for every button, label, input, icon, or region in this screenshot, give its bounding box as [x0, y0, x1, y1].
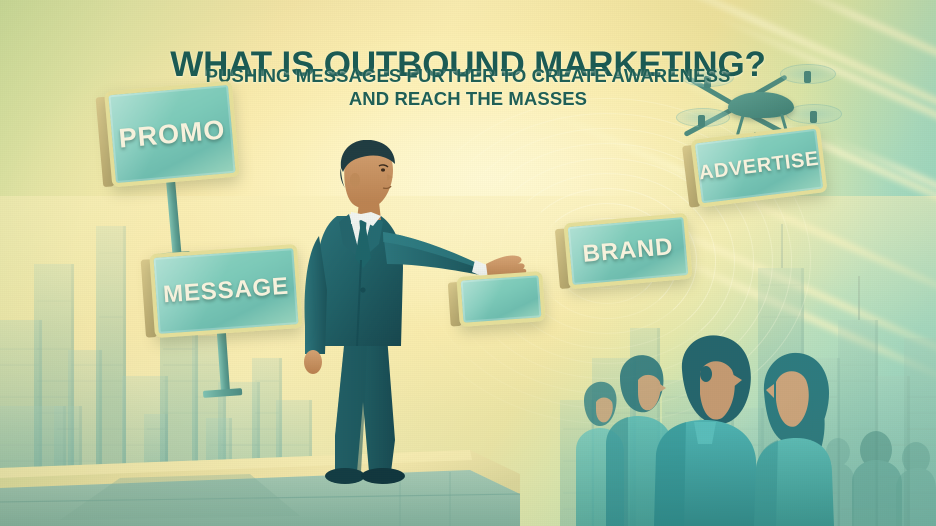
- sign-label: MESSAGE: [162, 273, 290, 310]
- sign-label: ADVERTISE: [698, 147, 821, 185]
- sign-message: MESSAGE: [149, 244, 302, 338]
- sign-face: PROMO: [104, 81, 240, 188]
- sign-label: PROMO: [117, 114, 226, 154]
- sign-blank: [456, 271, 545, 327]
- sign-face: [456, 271, 545, 327]
- outbound-marketing-poster: PROMOMESSAGEADVERTISEBRAND WHAT IS OUTBO…: [0, 0, 936, 526]
- sign-brand: BRAND: [563, 213, 692, 290]
- sign-face: BRAND: [563, 213, 692, 290]
- subtitle-line-1: PUSHING MESSAGES FURTHER TO CREATE AWARE…: [0, 65, 936, 87]
- sign-promo: PROMO: [104, 81, 240, 188]
- sign-face: MESSAGE: [149, 244, 302, 338]
- sign-label: BRAND: [582, 233, 675, 269]
